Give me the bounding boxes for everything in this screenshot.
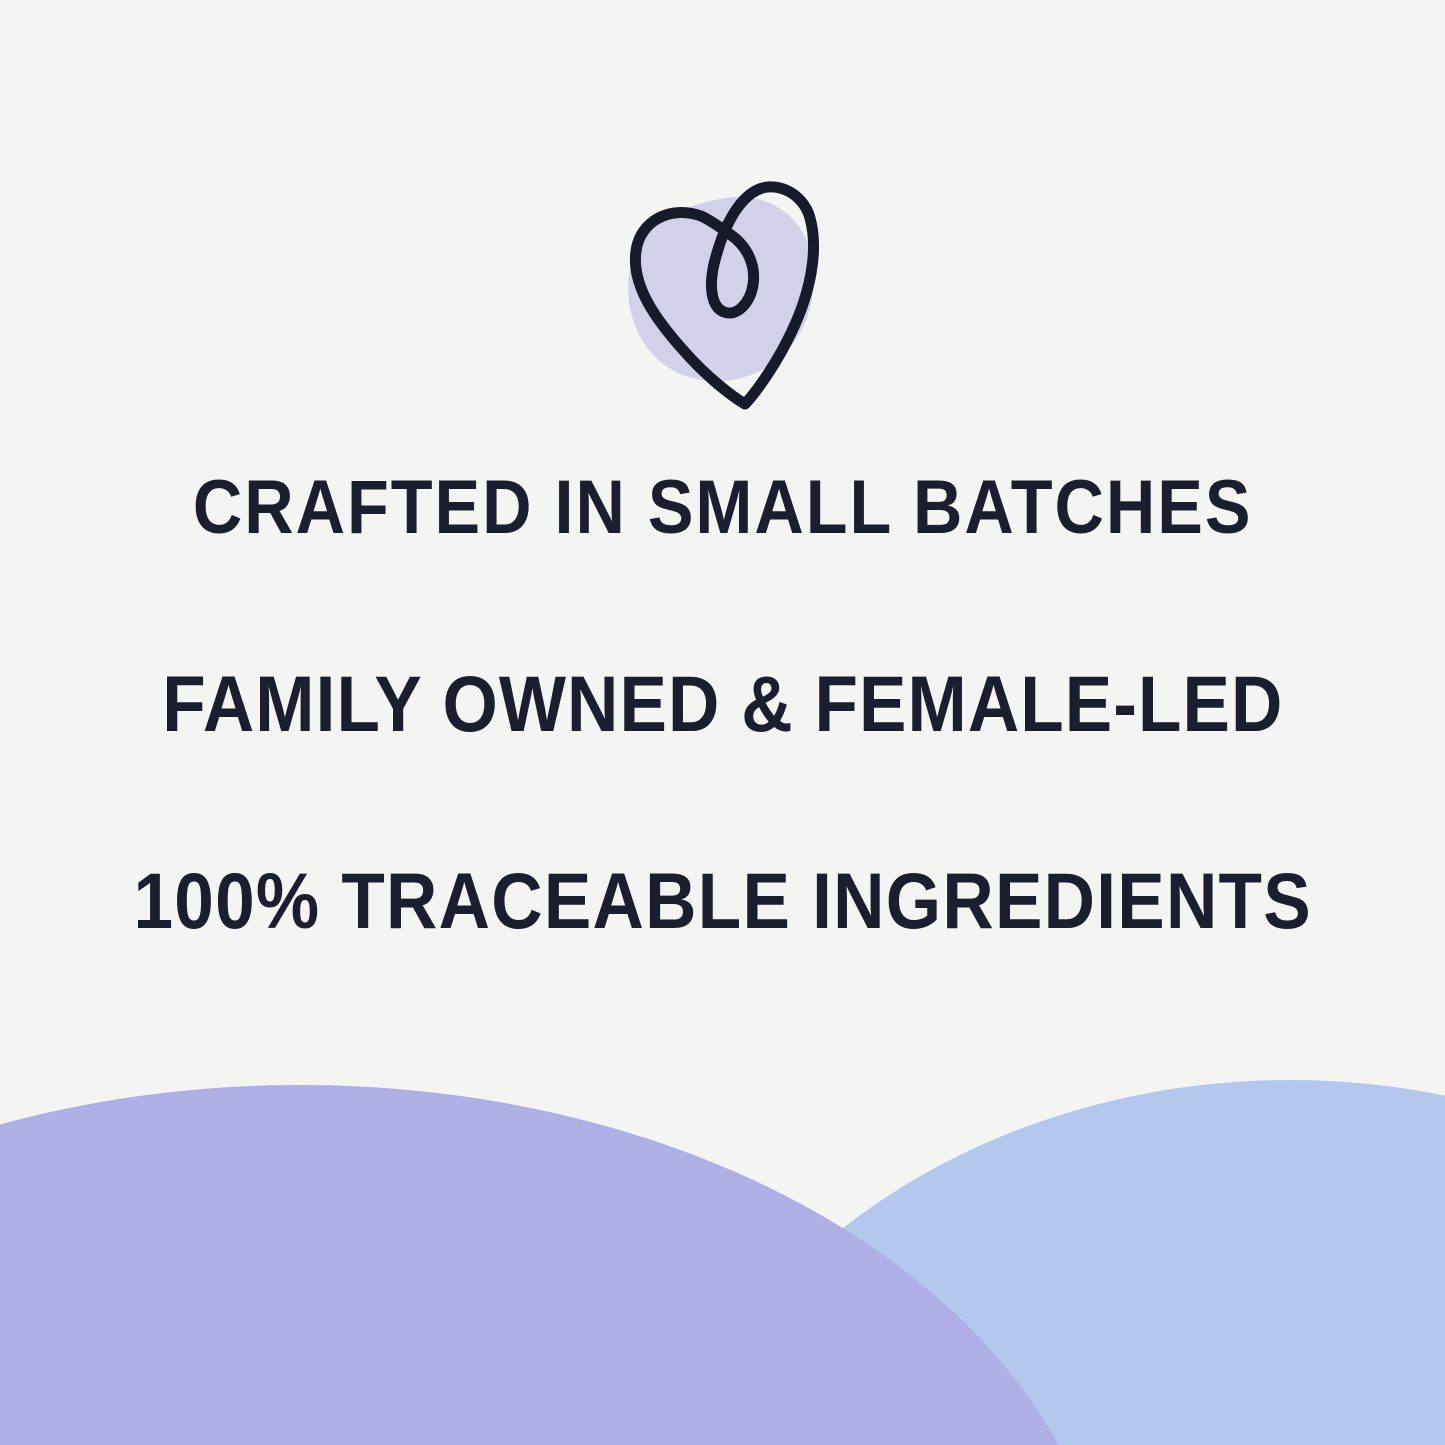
headline-crafted-in-small-batches: CRAFTED IN SMALL BATCHES	[193, 470, 1253, 546]
headline-traceable-ingredients: 100% TRACEABLE INGREDIENTS	[133, 861, 1311, 940]
heart-emblem-svg	[600, 155, 850, 420]
heart-emblem	[600, 155, 850, 420]
brand-values-card: CRAFTED IN SMALL BATCHES FAMILY OWNED & …	[0, 0, 1445, 1445]
headline-stack: CRAFTED IN SMALL BATCHES FAMILY OWNED & …	[0, 470, 1445, 940]
headline-family-owned-female-led: FAMILY OWNED & FEMALE-LED	[162, 664, 1283, 743]
